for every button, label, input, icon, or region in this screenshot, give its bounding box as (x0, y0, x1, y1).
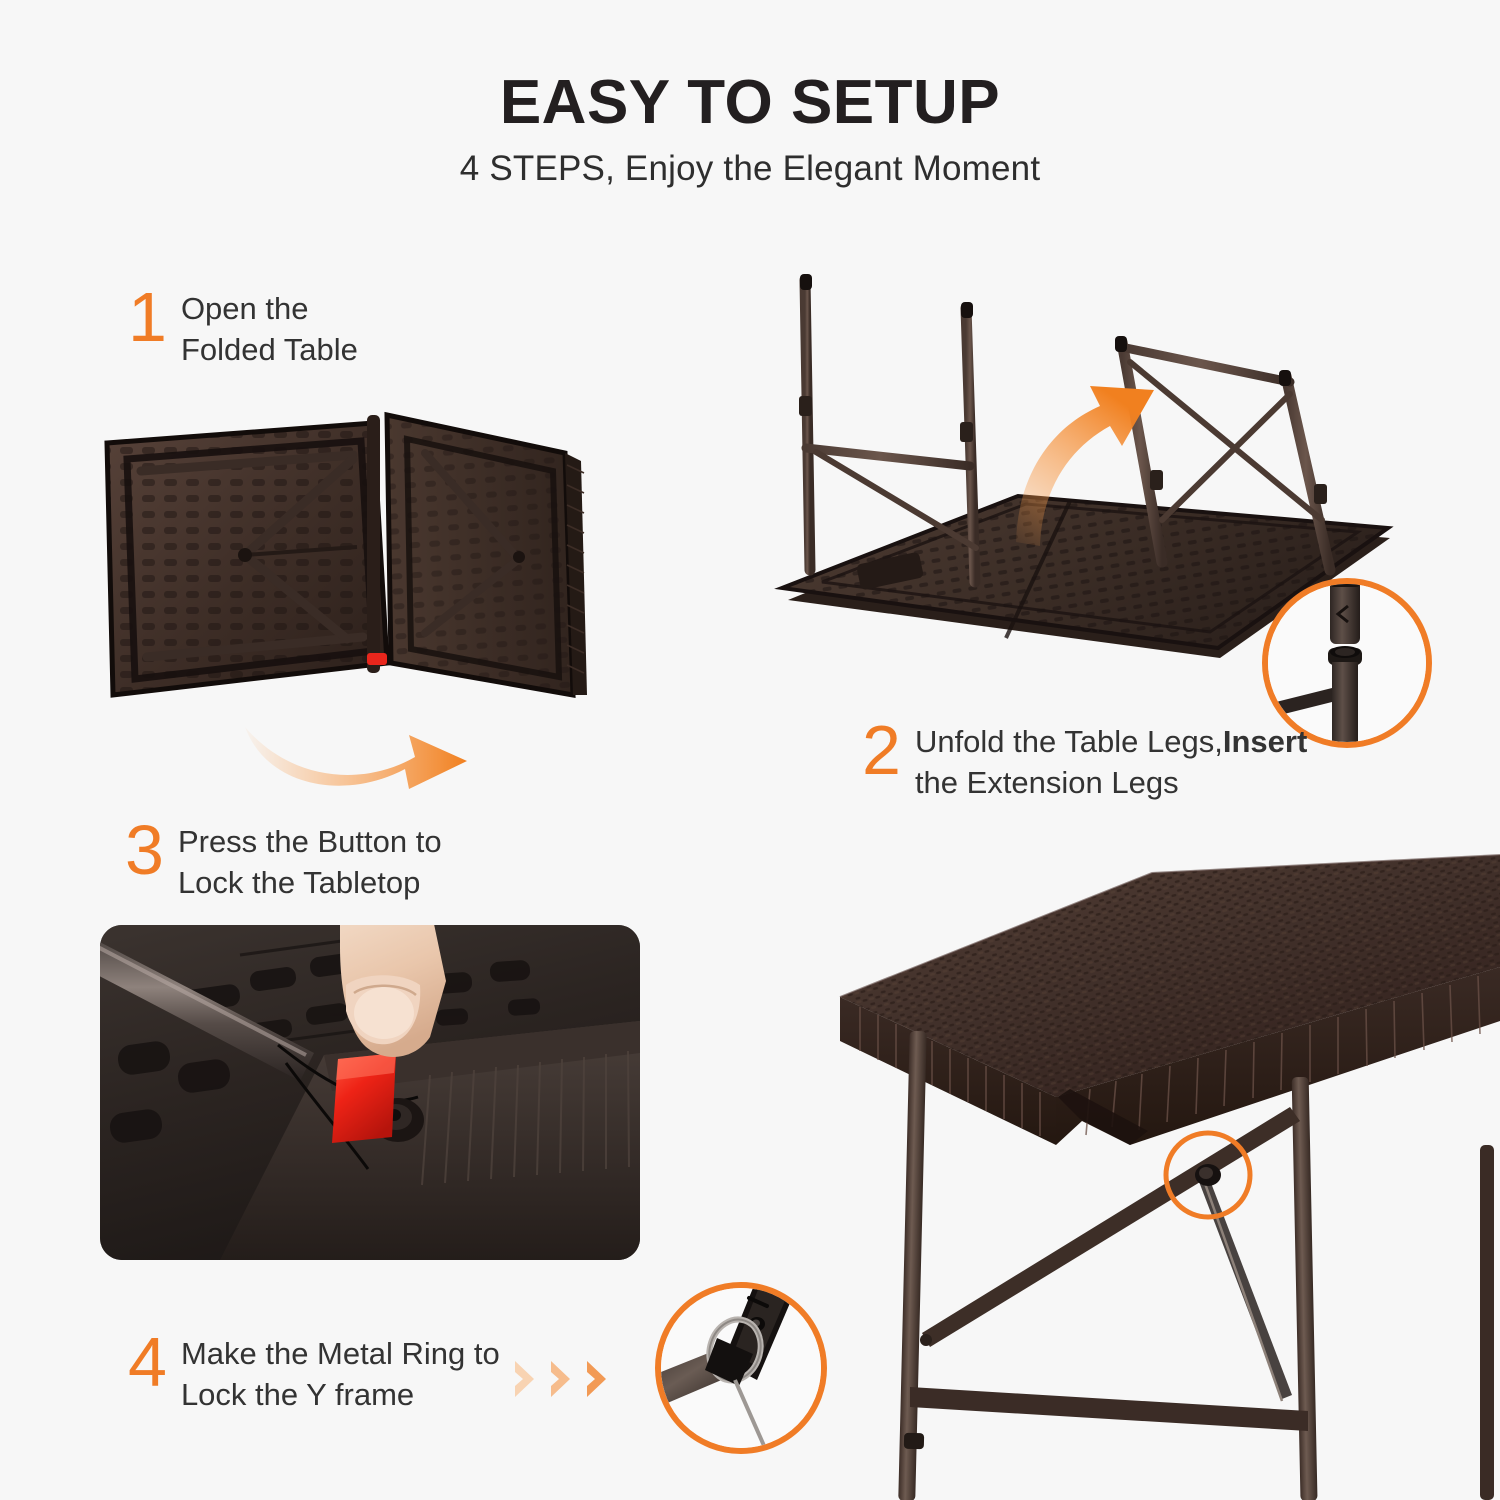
right-leg (1292, 1077, 1318, 1500)
step-4-label: 4 Make the Metal Ring to Lock the Y fram… (128, 1330, 500, 1416)
step-3-line-2: Lock the Tabletop (178, 863, 442, 904)
step-3-image (100, 925, 640, 1260)
left-leg (898, 1031, 926, 1500)
folded-table-left-half (107, 415, 387, 695)
step-3-label: 3 Press the Button to Lock the Tabletop (125, 818, 442, 904)
step-4-line-2: Lock the Y frame (181, 1375, 500, 1416)
far-leg (1480, 1145, 1494, 1500)
step-2-line-1-main: Unfold the Table Legs, (915, 724, 1223, 759)
curved-arrow-icon (245, 727, 467, 789)
step-2-text: Unfold the Table Legs,Insert the Extensi… (915, 718, 1307, 804)
step-2-label: 2 Unfold the Table Legs,Insert the Exten… (862, 718, 1307, 804)
step-2-line-1-emphasis: Insert (1223, 724, 1307, 759)
fingernail (354, 987, 414, 1039)
metal-ring-y-frame-callout (655, 1282, 827, 1454)
infographic-page: EASY TO SETUP 4 STEPS, Enjoy the Elegant… (0, 0, 1500, 1500)
step-1-label: 1 Open the Folded Table (128, 285, 358, 371)
step-4-number: 4 (128, 1330, 167, 1394)
step-2-line-1: Unfold the Table Legs,Insert (915, 722, 1307, 763)
brace-knob (1195, 1164, 1221, 1186)
step-1-image (95, 395, 615, 795)
assembled-table-image (830, 845, 1500, 1500)
step-3-text: Press the Button to Lock the Tabletop (178, 818, 442, 904)
chevron-arrow-group (512, 1358, 614, 1400)
step-1-text: Open the Folded Table (181, 285, 358, 371)
red-lock-button (332, 1053, 396, 1143)
step-2-number: 2 (862, 718, 901, 782)
header: EASY TO SETUP 4 STEPS, Enjoy the Elegant… (0, 70, 1500, 189)
step-4-line-1: Make the Metal Ring to (181, 1334, 500, 1375)
chevron-right-icon (548, 1358, 578, 1400)
page-subtitle: 4 STEPS, Enjoy the Elegant Moment (0, 149, 1500, 189)
step-2-line-2: the Extension Legs (915, 763, 1307, 804)
step-1-number: 1 (128, 285, 167, 349)
lower-tube (1332, 662, 1358, 742)
step-1-line-2: Folded Table (181, 330, 358, 371)
step-1-line-1: Open the (181, 289, 358, 330)
lower-stretcher (910, 1387, 1308, 1431)
folded-table-right-half (387, 415, 587, 695)
step-3-line-1: Press the Button to (178, 822, 442, 863)
step-4-text: Make the Metal Ring to Lock the Y frame (181, 1330, 500, 1416)
upper-tube (1330, 584, 1360, 644)
chevron-right-icon (512, 1358, 542, 1400)
page-title: EASY TO SETUP (0, 70, 1500, 135)
red-lock-latch (367, 653, 387, 665)
step-3-number: 3 (125, 818, 164, 882)
chevron-right-icon (584, 1358, 614, 1400)
